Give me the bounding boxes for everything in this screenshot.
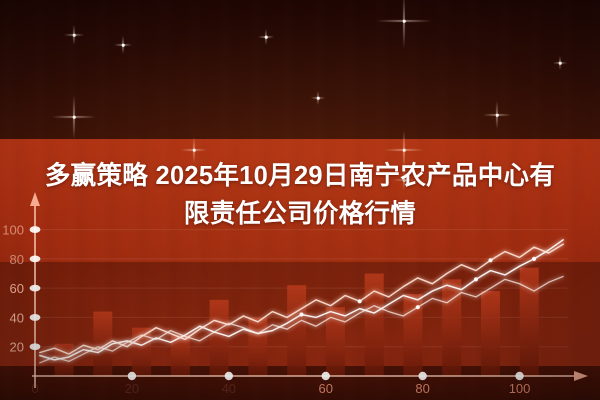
background-band-bottom (0, 366, 600, 400)
screenshot-root: 20406080100020406080100 多赢策略 2025年10月29日… (0, 0, 600, 400)
background-band-top (0, 0, 600, 139)
background-band-mid (0, 262, 600, 366)
background-band-bright (0, 139, 600, 262)
